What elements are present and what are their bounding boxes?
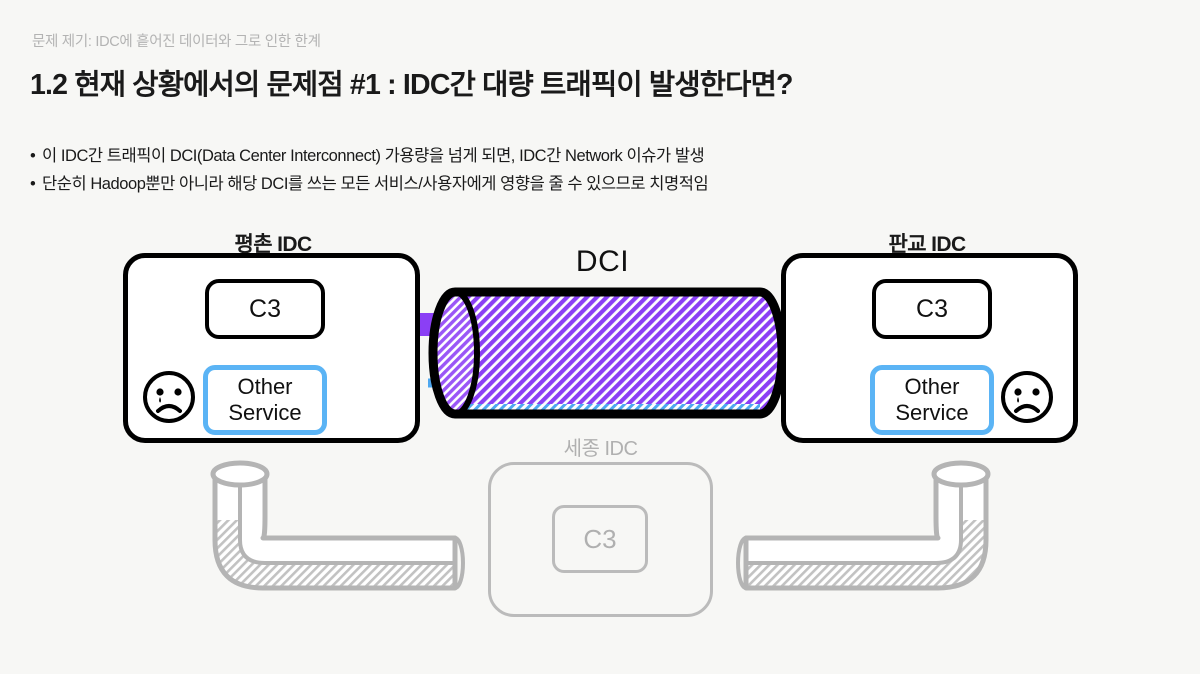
- right-c3-box: C3: [872, 279, 992, 339]
- other-service-line2: Service: [228, 400, 301, 426]
- right-other-service-box: Other Service: [870, 365, 994, 435]
- dci-pipe: [433, 292, 782, 414]
- other-service-line1: Other: [904, 374, 959, 400]
- sejong-left-pipe: [213, 463, 463, 588]
- left-other-service-box: Other Service: [203, 365, 327, 435]
- sejong-right-pipe: [738, 463, 988, 588]
- crying-sad-face-icon: [999, 369, 1055, 425]
- network-diagram: 평촌 IDC 판교 IDC DCI 세종 IDC C3 Other Servic…: [0, 0, 1200, 674]
- dci-label: DCI: [430, 245, 775, 279]
- crying-sad-face-icon: [141, 369, 197, 425]
- sejong-c3-box: C3: [552, 505, 648, 573]
- sejong-idc-label: 세종 IDC: [478, 432, 723, 461]
- other-service-line2: Service: [895, 400, 968, 426]
- left-c3-box: C3: [205, 279, 325, 339]
- other-service-line1: Other: [237, 374, 292, 400]
